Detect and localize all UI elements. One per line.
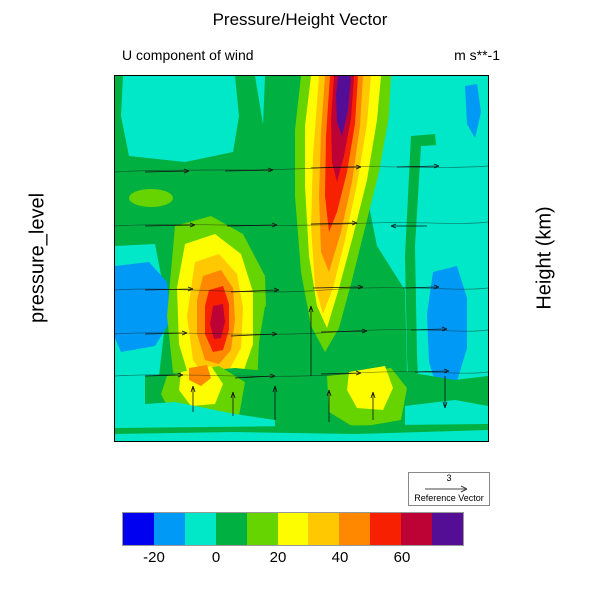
- x-tick-top: [239, 75, 240, 76]
- x-tick: [447, 441, 448, 442]
- y-tick: [114, 352, 115, 353]
- x-tick: [364, 441, 365, 442]
- colorbar-swatch: [278, 513, 309, 545]
- plot-subtitle: U component of wind: [122, 47, 254, 63]
- filled-contours: [115, 76, 488, 441]
- x-tick: [239, 441, 240, 442]
- y-tick: [114, 164, 115, 165]
- colorbar-label: -20: [143, 549, 165, 566]
- page-title: Pressure/Height Vector: [0, 10, 600, 30]
- pressure-height-vector-plot: Pressure/Height Vector U component of wi…: [0, 0, 600, 600]
- x-tick: [156, 441, 157, 442]
- right-tick: [488, 226, 489, 227]
- colorbar-swatch: [185, 513, 216, 545]
- y-tick: [114, 441, 115, 442]
- units-label: m s**-1: [454, 47, 500, 63]
- colorbar-label: 0: [212, 549, 220, 566]
- y-tick: [114, 264, 115, 265]
- y-tick: [114, 366, 115, 367]
- reference-vector-legend: 3 Reference Vector: [408, 472, 490, 506]
- colorbar-swatch: [154, 513, 185, 545]
- x-tick: [115, 441, 116, 442]
- y-tick: [114, 206, 115, 207]
- right-tick: [488, 332, 489, 333]
- contour-plot-area: 10 30 50 70 100 150 200 250 300 400 500 …: [114, 75, 489, 442]
- colorbar-swatch: [247, 513, 278, 545]
- x-tick-top: [322, 75, 323, 76]
- colorbar-swatch: [370, 513, 401, 545]
- y-tick: [114, 333, 115, 334]
- y-tick: [114, 305, 115, 306]
- right-axis-title: Height (km): [534, 206, 557, 309]
- x-tick-top: [156, 75, 157, 76]
- reference-vector-label: Reference Vector: [409, 493, 489, 503]
- colorbar-swatch: [308, 513, 339, 545]
- y-tick: [114, 232, 115, 233]
- right-tick: [488, 120, 489, 121]
- x-tick-top: [487, 75, 488, 76]
- colorbar-swatch: [432, 513, 463, 545]
- right-tick: [488, 173, 489, 174]
- x-tick: [281, 441, 282, 442]
- colorbar-label: 20: [270, 549, 287, 566]
- x-tick: [487, 441, 488, 442]
- colorbar-swatch: [123, 513, 154, 545]
- x-tick: [198, 441, 199, 442]
- colorbar-swatch: [401, 513, 432, 545]
- colorbar-label: 40: [332, 549, 349, 566]
- x-tick-top: [405, 75, 406, 76]
- x-tick: [405, 441, 406, 442]
- colorbar-swatch: [339, 513, 370, 545]
- colorbar: [122, 512, 464, 546]
- x-tick: [322, 441, 323, 442]
- right-tick: [488, 385, 489, 386]
- y-axis-title: pressure_level: [27, 193, 50, 323]
- contour-field: [115, 76, 488, 441]
- y-tick: [114, 76, 115, 77]
- y-tick: [114, 390, 115, 391]
- reference-vector-magnitude: 3: [409, 473, 489, 483]
- y-tick: [114, 435, 115, 436]
- y-tick: [114, 408, 115, 409]
- colorbar-label: 60: [394, 549, 411, 566]
- right-tick: [488, 421, 489, 422]
- colorbar-swatch: [216, 513, 247, 545]
- right-tick: [488, 279, 489, 280]
